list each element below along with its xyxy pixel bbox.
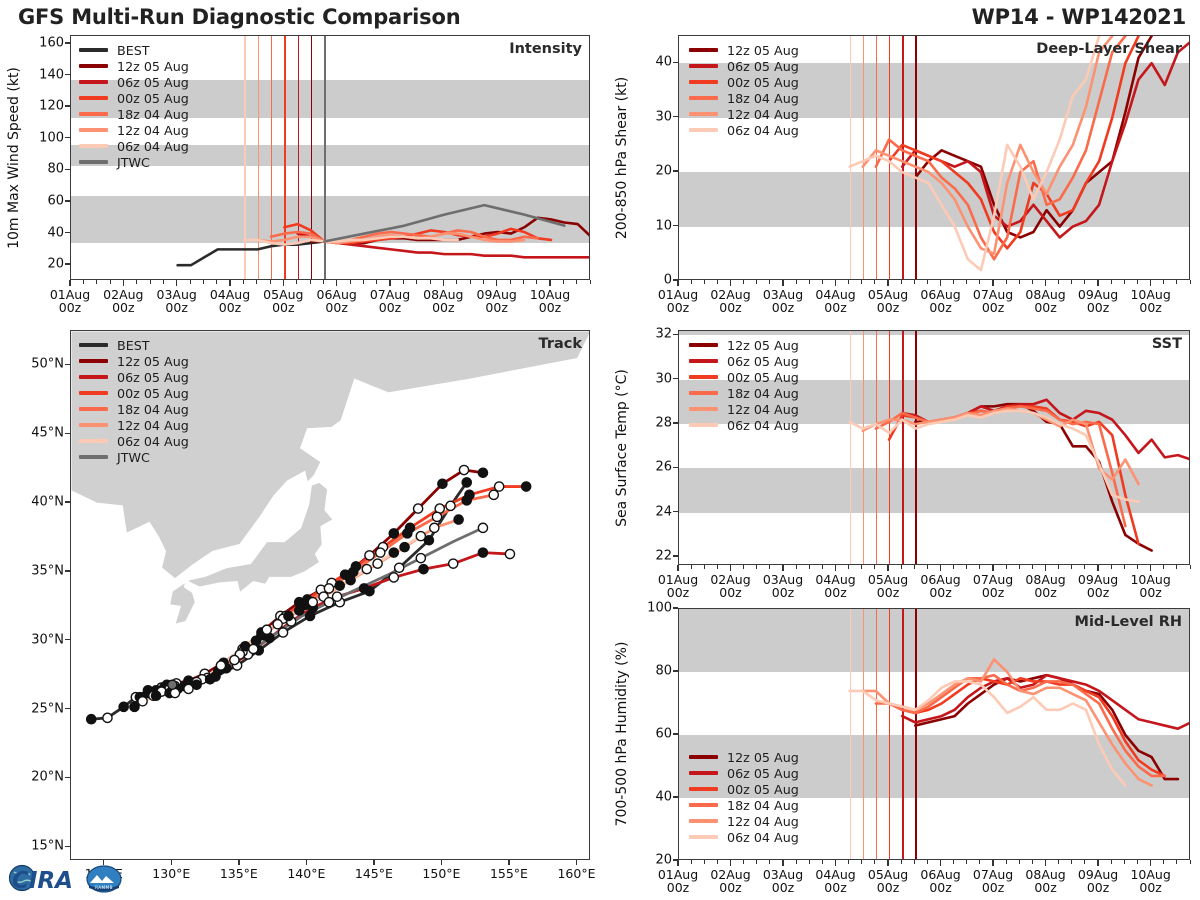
x-tick: [887, 280, 888, 286]
y-tick: [673, 511, 678, 512]
x-minor-tick: [901, 280, 902, 284]
x-minor-tick: [704, 565, 705, 569]
legend-item[interactable]: 12z 05 Aug: [689, 42, 799, 58]
legend-track: BEST12z 05 Aug06z 05 Aug00z 05 Aug18z 04…: [79, 337, 189, 465]
track-point-marker: [359, 584, 368, 593]
series-line: [915, 36, 1151, 237]
legend-item[interactable]: 00z 05 Aug: [689, 781, 799, 797]
track-point-marker: [395, 563, 404, 572]
y-tick-label: 24: [638, 504, 672, 519]
legend-item[interactable]: 00z 05 Aug: [79, 90, 189, 106]
track-point-marker: [376, 548, 385, 557]
cira-logo: CIRA RAMMB: [6, 858, 122, 898]
x-minor-tick: [743, 565, 744, 569]
legend-item[interactable]: 12z 04 Aug: [79, 122, 189, 138]
x-tick-hour: 00z: [1034, 880, 1056, 895]
x-minor-tick: [216, 280, 217, 284]
y-tick: [673, 555, 678, 556]
x-tick: [549, 280, 550, 286]
legend-item[interactable]: 06z 04 Aug: [689, 417, 799, 433]
track-point-marker: [278, 628, 287, 637]
x-tick: [123, 280, 124, 286]
legend-item[interactable]: 06z 05 Aug: [689, 58, 799, 74]
x-minor-tick: [756, 565, 757, 569]
legend-swatch: [79, 375, 108, 379]
track-point-marker: [400, 543, 409, 552]
x-minor-tick: [1163, 860, 1164, 864]
y-tick: [65, 169, 70, 170]
legend-label: 12z 04 Aug: [727, 402, 799, 417]
y-tick-label: 60: [30, 193, 64, 208]
x-tick: [1097, 565, 1098, 571]
track-point-marker: [324, 584, 333, 593]
x-minor-tick: [874, 565, 875, 569]
x-minor-tick: [163, 280, 164, 284]
x-tick: [1097, 280, 1098, 286]
x-tick: [1150, 565, 1151, 571]
legend-swatch: [689, 64, 718, 68]
track-point-marker: [438, 479, 447, 488]
x-tick-label: 04Aug00z: [815, 573, 855, 599]
x-minor-tick: [1019, 565, 1020, 569]
map-lat-tick: [65, 777, 70, 778]
legend-label: 12z 04 Aug: [727, 814, 799, 829]
x-tick-hour: 00z: [112, 300, 134, 315]
x-tick-hour: 00z: [1087, 585, 1109, 600]
x-tick-hour: 00z: [1139, 300, 1161, 315]
x-minor-tick: [953, 860, 954, 864]
legend-label: 12z 05 Aug: [727, 750, 799, 765]
x-tick-hour: 00z: [877, 585, 899, 600]
x-minor-tick: [1176, 565, 1177, 569]
x-tick-label: 05Aug00z: [868, 573, 908, 599]
x-tick-hour: 00z: [772, 300, 794, 315]
legend-item[interactable]: 12z 04 Aug: [689, 106, 799, 122]
track-point-marker: [308, 598, 317, 607]
legend-swatch: [689, 112, 718, 116]
x-minor-tick: [1058, 565, 1059, 569]
x-minor-tick: [809, 860, 810, 864]
panel-track[interactable]: TrackBEST12z 05 Aug06z 05 Aug00z 05 Aug1…: [70, 330, 590, 860]
x-minor-tick: [796, 565, 797, 569]
legend-item[interactable]: 06z 05 Aug: [689, 765, 799, 781]
x-minor-tick: [1124, 280, 1125, 284]
legend-swatch: [689, 787, 718, 791]
track-point-marker: [151, 691, 160, 700]
legend-label: 12z 05 Aug: [117, 59, 189, 74]
x-minor-tick: [190, 280, 191, 284]
legend-item[interactable]: 12z 04 Aug: [79, 417, 189, 433]
x-tick-label: 08Aug00z: [1025, 573, 1065, 599]
track-point-marker: [324, 598, 333, 607]
x-tick-label: 08Aug00z: [423, 288, 463, 314]
legend-item[interactable]: 00z 05 Aug: [689, 369, 799, 385]
legend-intensity: BEST12z 05 Aug06z 05 Aug00z 05 Aug18z 04…: [79, 42, 189, 170]
legend-label: 12z 05 Aug: [727, 43, 799, 58]
y-tick: [673, 607, 678, 608]
x-tick: [887, 860, 888, 866]
x-minor-tick: [203, 280, 204, 284]
x-minor-tick: [96, 280, 97, 284]
x-minor-tick: [953, 280, 954, 284]
legend-item[interactable]: 00z 05 Aug: [79, 385, 189, 401]
legend-item[interactable]: 06z 04 Aug: [689, 829, 799, 845]
y-tick: [65, 42, 70, 43]
svg-text:CIRA: CIRA: [12, 868, 73, 894]
map-lat-tick: [65, 570, 70, 571]
x-tick-label: 01Aug00z: [658, 868, 698, 894]
legend-item[interactable]: 18z 04 Aug: [79, 106, 189, 122]
x-tick-label: 08Aug00z: [1025, 288, 1065, 314]
x-minor-tick: [848, 565, 849, 569]
x-tick: [835, 860, 836, 866]
track-point-marker: [373, 559, 382, 568]
legend-swatch: [689, 391, 718, 395]
x-minor-tick: [1019, 280, 1020, 284]
x-minor-tick: [966, 565, 967, 569]
y-tick: [673, 670, 678, 671]
legend-item[interactable]: 06z 05 Aug: [79, 369, 189, 385]
track-point-marker: [449, 559, 458, 568]
map-lon-tick: [441, 860, 442, 865]
legend-label: 12z 05 Aug: [117, 354, 189, 369]
legend-label: 18z 04 Aug: [117, 402, 189, 417]
legend-label: 06z 04 Aug: [727, 418, 799, 433]
x-tick-hour: 00z: [432, 300, 454, 315]
x-tick: [229, 280, 230, 286]
x-tick: [69, 280, 70, 286]
legend-swatch: [689, 128, 718, 132]
legend-swatch: [79, 343, 108, 347]
legend-swatch: [79, 48, 108, 52]
track-point-marker: [389, 548, 398, 557]
x-minor-tick: [1071, 280, 1072, 284]
x-tick-label: 09Aug00z: [476, 288, 516, 314]
legend-swatch: [79, 455, 108, 459]
x-minor-tick: [523, 280, 524, 284]
track-point-marker: [216, 661, 225, 670]
page-title-right: WP14 - WP142021: [972, 5, 1186, 29]
x-minor-tick: [1137, 565, 1138, 569]
y-tick-label: 100: [30, 130, 64, 145]
track-point-marker: [138, 697, 147, 706]
y-tick: [673, 467, 678, 468]
x-minor-tick: [901, 565, 902, 569]
legend-label: 06z 05 Aug: [117, 370, 189, 385]
x-tick-label: 03Aug00z: [763, 868, 803, 894]
legend-label: 12z 05 Aug: [727, 338, 799, 353]
x-tick: [336, 280, 337, 286]
legend-item[interactable]: 12z 04 Aug: [689, 401, 799, 417]
map-lat-tick: [65, 433, 70, 434]
x-tick-hour: 00z: [1034, 300, 1056, 315]
x-tick-hour: 00z: [1139, 585, 1161, 600]
plot-title-rh: Mid-Level RH: [1075, 614, 1182, 630]
x-tick-label: 04Aug00z: [210, 288, 250, 314]
y-tick-label: 40: [638, 790, 672, 805]
y-tick-label: 32: [638, 327, 672, 342]
y-tick-label: 120: [30, 99, 64, 114]
x-minor-tick: [416, 280, 417, 284]
x-minor-tick: [717, 280, 718, 284]
legend-sst: 12z 05 Aug06z 05 Aug00z 05 Aug18z 04 Aug…: [689, 337, 799, 433]
x-tick-label: 09Aug00z: [1078, 573, 1118, 599]
x-minor-tick: [1032, 565, 1033, 569]
x-minor-tick: [809, 565, 810, 569]
legend-swatch: [79, 64, 108, 68]
x-minor-tick: [1111, 565, 1112, 569]
legend-item[interactable]: 00z 05 Aug: [689, 74, 799, 90]
legend-label: JTWC: [117, 155, 150, 170]
x-tick-label: 10Aug00z: [1130, 573, 1170, 599]
legend-swatch: [79, 144, 108, 148]
x-tick: [730, 565, 731, 571]
legend-swatch: [689, 835, 718, 839]
panel-intensity: IntensityBEST12z 05 Aug06z 05 Aug00z 05 …: [70, 35, 590, 280]
x-minor-tick: [470, 280, 471, 284]
track-point-marker: [403, 529, 412, 538]
panel-sst: SST12z 05 Aug06z 05 Aug00z 05 Aug18z 04 …: [678, 330, 1190, 565]
y-tick-label: 100: [638, 601, 672, 616]
legend-item[interactable]: JTWC: [79, 154, 189, 170]
x-tick-hour: 00z: [719, 300, 741, 315]
x-minor-tick: [861, 280, 862, 284]
x-tick-hour: 00z: [667, 880, 689, 895]
x-minor-tick: [563, 280, 564, 284]
x-tick: [940, 565, 941, 571]
x-minor-tick: [1176, 860, 1177, 864]
y-tick-label: 40: [638, 55, 672, 70]
x-minor-tick: [874, 280, 875, 284]
legend-item[interactable]: 12z 05 Aug: [689, 337, 799, 353]
track-point-marker: [119, 702, 128, 711]
y-tick: [673, 170, 678, 171]
x-minor-tick: [1190, 565, 1191, 569]
plot-title-sst: SST: [1152, 336, 1182, 352]
legend-item[interactable]: 06z 05 Aug: [689, 353, 799, 369]
map-lat-label: 30°N: [14, 632, 64, 647]
legend-item[interactable]: 18z 04 Aug: [79, 401, 189, 417]
legend-item[interactable]: 12z 05 Aug: [79, 58, 189, 74]
track-point-marker: [130, 702, 139, 711]
y-tick: [673, 116, 678, 117]
x-tick: [887, 565, 888, 571]
y-tick-label: 60: [638, 727, 672, 742]
track-point-marker: [103, 713, 112, 722]
x-tick-hour: 00z: [539, 300, 561, 315]
x-minor-tick: [979, 565, 980, 569]
legend-label: 00z 05 Aug: [117, 91, 189, 106]
x-tick: [677, 860, 678, 866]
x-minor-tick: [822, 280, 823, 284]
x-minor-tick: [914, 565, 915, 569]
track-point-marker: [262, 625, 271, 634]
x-minor-tick: [861, 860, 862, 864]
legend-item[interactable]: 06z 05 Aug: [79, 74, 189, 90]
map-lat-tick: [65, 846, 70, 847]
legend-swatch: [79, 423, 108, 427]
x-tick: [730, 860, 731, 866]
legend-label: BEST: [117, 338, 150, 353]
x-tick: [940, 280, 941, 286]
y-tick-label: 160: [30, 35, 64, 50]
track-point-marker: [284, 611, 293, 620]
x-minor-tick: [1084, 860, 1085, 864]
x-tick-label: 06Aug00z: [920, 288, 960, 314]
x-tick: [1150, 860, 1151, 866]
legend-label: 06z 05 Aug: [727, 354, 799, 369]
x-minor-tick: [1006, 280, 1007, 284]
x-tick: [443, 280, 444, 286]
x-minor-tick: [743, 280, 744, 284]
x-minor-tick: [376, 280, 377, 284]
x-minor-tick: [456, 280, 457, 284]
x-minor-tick: [1190, 280, 1191, 284]
map-lon-tick: [576, 860, 577, 865]
legend-swatch: [79, 160, 108, 164]
x-minor-tick: [756, 860, 757, 864]
track-point-marker: [273, 620, 282, 629]
legend-swatch: [79, 359, 108, 363]
map-lat-tick: [65, 501, 70, 502]
legend-swatch: [79, 80, 108, 84]
x-tick-hour: 00z: [379, 300, 401, 315]
legend-item[interactable]: BEST: [79, 337, 189, 353]
x-minor-tick: [1176, 280, 1177, 284]
y-tick-label: 80: [30, 162, 64, 177]
legend-swatch: [689, 407, 718, 411]
x-minor-tick: [590, 280, 591, 284]
track-point-marker: [389, 573, 398, 582]
legend-label: 06z 04 Aug: [117, 434, 189, 449]
x-tick-hour: 00z: [59, 300, 81, 315]
x-tick: [496, 280, 497, 286]
x-minor-tick: [256, 280, 257, 284]
legend-item[interactable]: JTWC: [79, 449, 189, 465]
svg-text:RAMMB: RAMMB: [95, 885, 113, 890]
x-minor-tick: [953, 565, 954, 569]
x-tick: [782, 280, 783, 286]
map-lon-label: 155°E: [490, 867, 528, 880]
x-minor-tick: [704, 280, 705, 284]
track-point-marker: [478, 523, 487, 532]
map-lat-label: 40°N: [14, 495, 64, 510]
x-minor-tick: [927, 860, 928, 864]
map-lat-label: 20°N: [14, 770, 64, 785]
track-point-marker: [430, 523, 439, 532]
x-tick-label: 03Aug00z: [763, 288, 803, 314]
y-tick-label: 10: [638, 218, 672, 233]
x-minor-tick: [966, 860, 967, 864]
legend-swatch: [689, 96, 718, 100]
map-lon-tick: [306, 860, 307, 865]
legend-swatch: [689, 819, 718, 823]
x-tick-label: 07Aug00z: [370, 288, 410, 314]
x-minor-tick: [136, 280, 137, 284]
y-tick: [673, 378, 678, 379]
x-tick: [677, 565, 678, 571]
x-tick: [677, 280, 678, 286]
track-point-marker: [416, 532, 425, 541]
x-minor-tick: [323, 280, 324, 284]
legend-label: 18z 04 Aug: [727, 91, 799, 106]
track-point-marker: [522, 482, 531, 491]
x-tick-label: 08Aug00z: [1025, 868, 1065, 894]
legend-item[interactable]: 12z 04 Aug: [689, 813, 799, 829]
series-line: [915, 675, 1178, 779]
legend-swatch: [689, 48, 718, 52]
legend-item[interactable]: 18z 04 Aug: [689, 797, 799, 813]
x-minor-tick: [363, 280, 364, 284]
legend-swatch: [79, 128, 108, 132]
x-minor-tick: [1084, 565, 1085, 569]
x-tick-hour: 00z: [877, 300, 899, 315]
x-minor-tick: [861, 565, 862, 569]
track-point-marker: [87, 715, 96, 724]
x-tick-label: 07Aug00z: [973, 288, 1013, 314]
x-tick: [1045, 565, 1046, 571]
legend-item[interactable]: 12z 05 Aug: [79, 353, 189, 369]
x-minor-tick: [769, 565, 770, 569]
legend-label: 12z 04 Aug: [117, 123, 189, 138]
y-tick-label: 30: [638, 109, 672, 124]
map-lon-tick: [171, 860, 172, 865]
legend-swatch: [79, 112, 108, 116]
x-tick-hour: 00z: [824, 585, 846, 600]
legend-item[interactable]: BEST: [79, 42, 189, 58]
legend-label: 06z 05 Aug: [727, 766, 799, 781]
x-minor-tick: [403, 280, 404, 284]
x-tick-hour: 00z: [165, 300, 187, 315]
x-tick-label: 01Aug00z: [658, 573, 698, 599]
x-minor-tick: [296, 280, 297, 284]
x-tick-hour: 00z: [1034, 585, 1056, 600]
legend-item[interactable]: 06z 04 Aug: [79, 138, 189, 154]
legend-item[interactable]: 18z 04 Aug: [689, 90, 799, 106]
x-tick-hour: 00z: [667, 585, 689, 600]
x-minor-tick: [1137, 280, 1138, 284]
track-point-marker: [249, 644, 258, 653]
x-minor-tick: [1032, 280, 1033, 284]
y-tick: [65, 232, 70, 233]
track-point-marker: [168, 680, 177, 689]
x-tick: [940, 860, 941, 866]
x-tick-label: 10Aug00z: [1130, 868, 1170, 894]
track-point-marker: [446, 501, 455, 510]
x-tick-label: 05Aug00z: [868, 288, 908, 314]
legend-item[interactable]: 12z 05 Aug: [689, 749, 799, 765]
legend-swatch: [79, 439, 108, 443]
legend-item[interactable]: 06z 04 Aug: [689, 122, 799, 138]
x-minor-tick: [927, 565, 928, 569]
x-minor-tick: [1006, 565, 1007, 569]
x-minor-tick: [510, 280, 511, 284]
legend-item[interactable]: 06z 04 Aug: [79, 433, 189, 449]
x-tick-label: 02Aug00z: [710, 868, 750, 894]
series-line: [850, 681, 1126, 785]
x-minor-tick: [1124, 565, 1125, 569]
x-minor-tick: [756, 280, 757, 284]
x-minor-tick: [483, 280, 484, 284]
y-axis-label: Sea Surface Temp (°C): [614, 369, 630, 527]
plot-title-shear: Deep-Layer Shear: [1036, 41, 1182, 57]
x-minor-tick: [1163, 280, 1164, 284]
x-tick-hour: 00z: [1087, 880, 1109, 895]
x-tick-hour: 00z: [824, 300, 846, 315]
legend-item[interactable]: 18z 04 Aug: [689, 385, 799, 401]
x-tick: [835, 565, 836, 571]
track-point-marker: [362, 565, 371, 574]
